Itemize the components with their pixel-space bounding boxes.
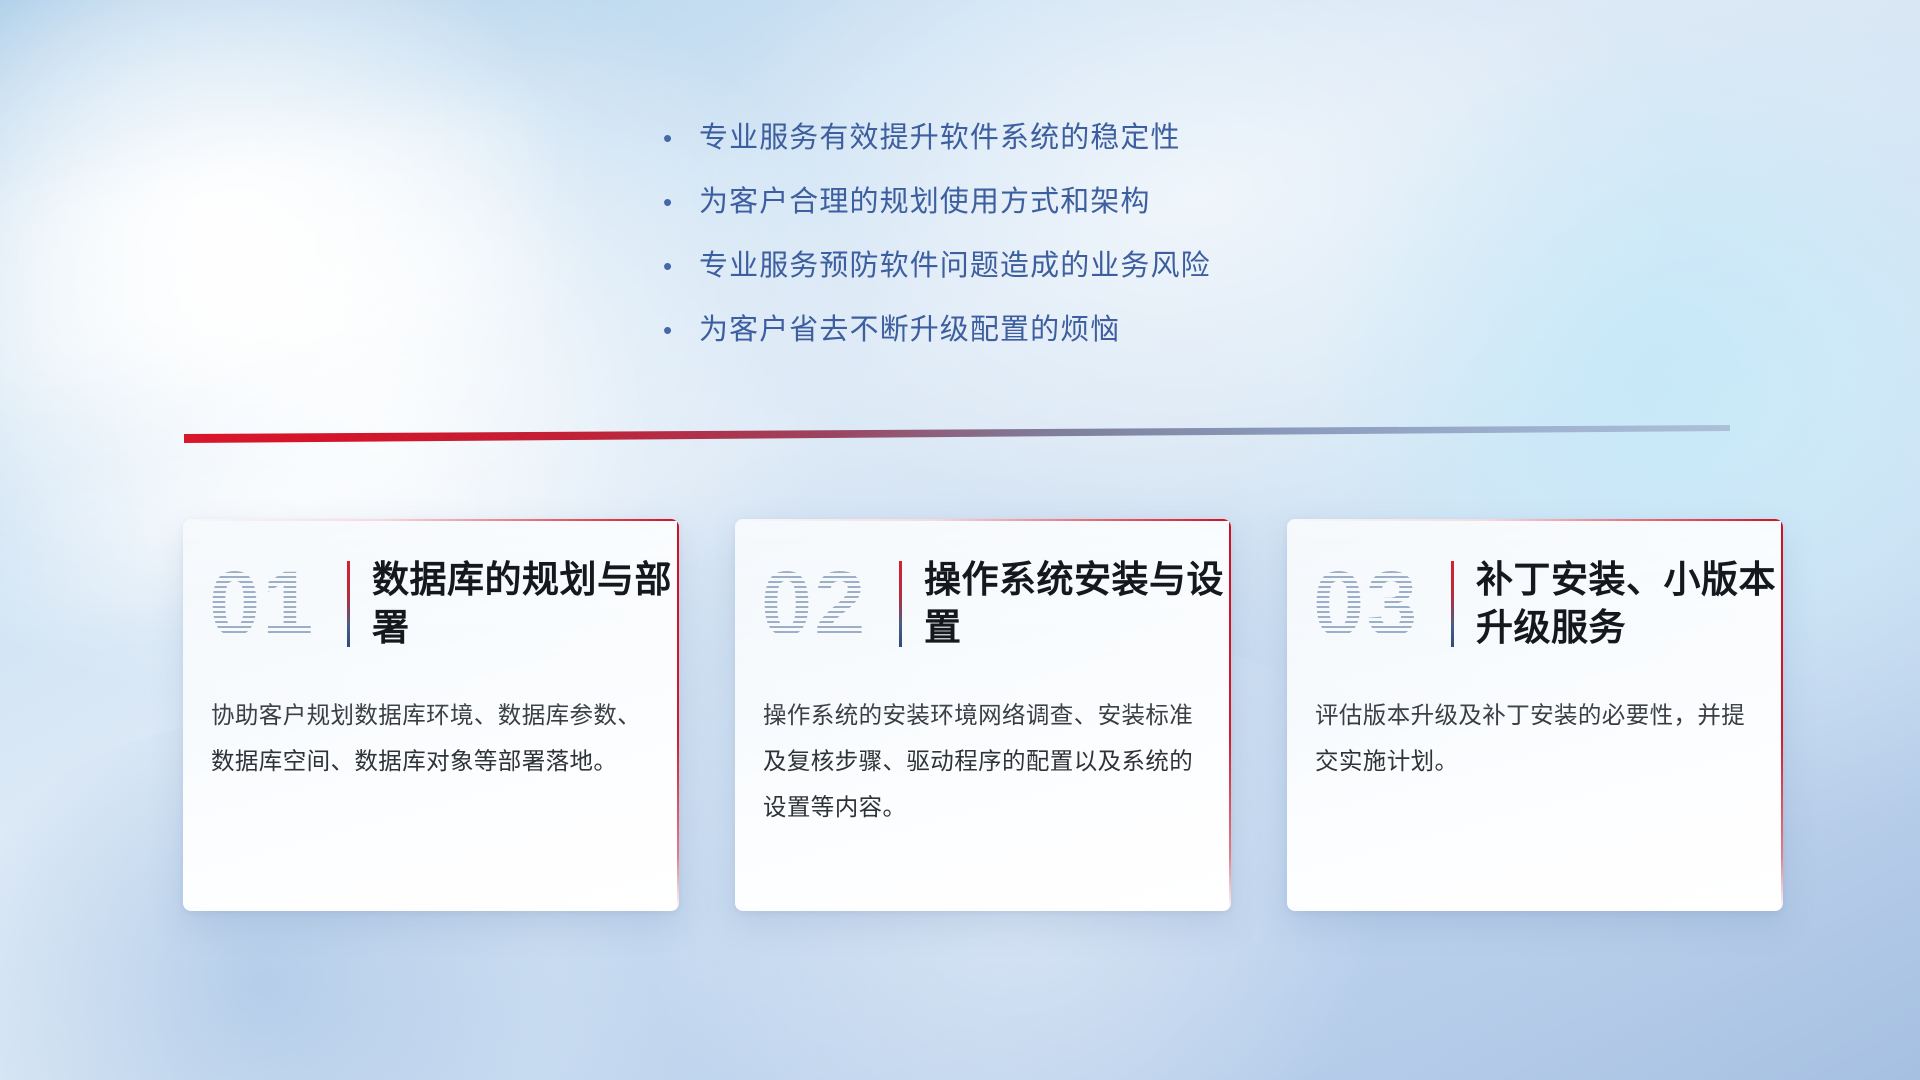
list-item: • 为客户合理的规划使用方式和架构 [663, 170, 1423, 234]
bullet-dot-icon: • [663, 234, 699, 298]
benefits-bullet-list: • 专业服务有效提升软件系统的稳定性 • 为客户合理的规划使用方式和架构 • 专… [663, 106, 1423, 362]
service-card[interactable]: 02 操作系统安装与设置 操作系统的安装环境网络调查、安装标准及复核步骤、驱动程… [735, 519, 1231, 911]
card-title: 数据库的规划与部署 [372, 556, 679, 652]
background-glow-top-left [0, 0, 600, 580]
bullet-text: 专业服务预防软件问题造成的业务风险 [699, 234, 1211, 298]
card-divider-icon [1451, 561, 1454, 647]
card-divider-icon [899, 561, 902, 647]
bullet-dot-icon: • [663, 106, 699, 170]
divider-shape [184, 424, 1730, 450]
card-header: 02 操作系统安装与设置 [735, 519, 1231, 667]
bullet-text: 为客户省去不断升级配置的烦恼 [699, 298, 1120, 362]
bullet-dot-icon: • [663, 298, 699, 362]
list-item: • 为客户省去不断升级配置的烦恼 [663, 298, 1423, 362]
card-divider-icon [347, 561, 350, 647]
service-card[interactable]: 01 数据库的规划与部署 协助客户规划数据库环境、数据库参数、数据库空间、数据库… [183, 519, 679, 911]
service-card[interactable]: 03 补丁安装、小版本升级服务 评估版本升级及补丁安装的必要性，并提交实施计划。 [1287, 519, 1783, 911]
bullet-dot-icon: • [663, 170, 699, 234]
slide-canvas: • 专业服务有效提升软件系统的稳定性 • 为客户合理的规划使用方式和架构 • 专… [0, 0, 1920, 1080]
section-divider [184, 424, 1730, 450]
card-description: 评估版本升级及补丁安装的必要性，并提交实施计划。 [1287, 667, 1783, 785]
list-item: • 专业服务有效提升软件系统的稳定性 [663, 106, 1423, 170]
card-title: 操作系统安装与设置 [924, 556, 1231, 652]
list-item: • 专业服务预防软件问题造成的业务风险 [663, 234, 1423, 298]
background-light-streak [0, 93, 592, 398]
card-description: 操作系统的安装环境网络调查、安装标准及复核步骤、驱动程序的配置以及系统的设置等内… [735, 667, 1231, 830]
bullet-text: 专业服务有效提升软件系统的稳定性 [699, 106, 1181, 170]
service-card-list: 01 数据库的规划与部署 协助客户规划数据库环境、数据库参数、数据库空间、数据库… [183, 519, 1783, 919]
card-number: 03 [1313, 551, 1447, 657]
card-title: 补丁安装、小版本升级服务 [1476, 556, 1783, 652]
bullet-text: 为客户合理的规划使用方式和架构 [699, 170, 1151, 234]
card-number: 01 [209, 551, 343, 657]
card-header: 01 数据库的规划与部署 [183, 519, 679, 667]
card-header: 03 补丁安装、小版本升级服务 [1287, 519, 1783, 667]
card-number: 02 [761, 551, 895, 657]
card-description: 协助客户规划数据库环境、数据库参数、数据库空间、数据库对象等部署落地。 [183, 667, 679, 785]
